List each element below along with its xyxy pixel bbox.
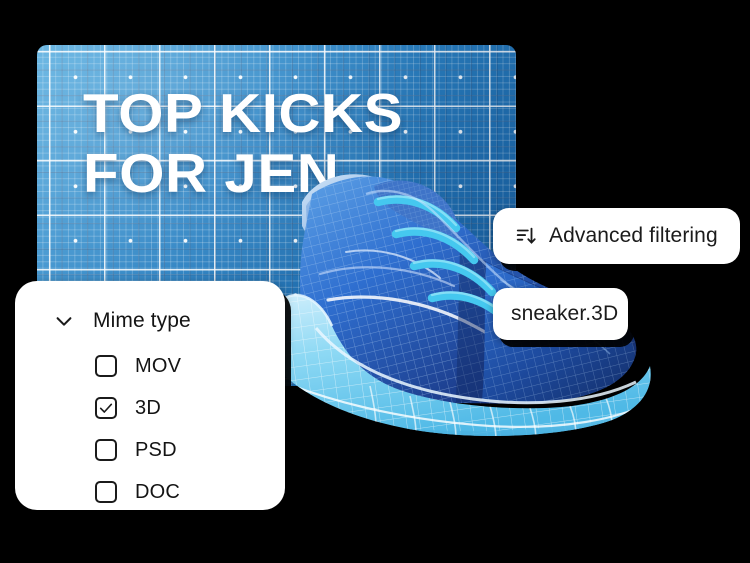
mime-type-title: Mime type xyxy=(93,309,191,333)
check-icon xyxy=(98,400,114,416)
mime-option-psd[interactable]: PSD xyxy=(15,429,285,471)
checkbox-doc[interactable] xyxy=(95,481,117,503)
mime-option-mov[interactable]: MOV xyxy=(15,345,285,387)
checkbox-psd[interactable] xyxy=(95,439,117,461)
file-name-label: sneaker.3D xyxy=(511,302,618,326)
mime-option-label: DOC xyxy=(135,481,180,504)
mime-type-options: MOV 3D PSD xyxy=(15,345,285,513)
mime-type-header[interactable]: Mime type xyxy=(15,281,285,333)
mime-type-filter-panel: Mime type MOV 3D xyxy=(15,281,285,510)
advanced-filtering-button[interactable]: Advanced filtering xyxy=(493,208,740,264)
composition-canvas: TOP KICKS FOR JEN xyxy=(0,0,750,563)
sort-descending-icon xyxy=(515,225,537,247)
checkbox-mov[interactable] xyxy=(95,355,117,377)
mime-option-label: 3D xyxy=(135,397,161,420)
mime-option-label: MOV xyxy=(135,355,181,378)
mime-option-doc[interactable]: DOC xyxy=(15,471,285,513)
chevron-down-icon xyxy=(53,310,75,332)
advanced-filtering-label: Advanced filtering xyxy=(549,224,718,248)
mime-option-3d[interactable]: 3D xyxy=(15,387,285,429)
mime-option-label: PSD xyxy=(135,439,177,462)
file-name-chip[interactable]: sneaker.3D xyxy=(493,288,628,340)
checkbox-3d[interactable] xyxy=(95,397,117,419)
